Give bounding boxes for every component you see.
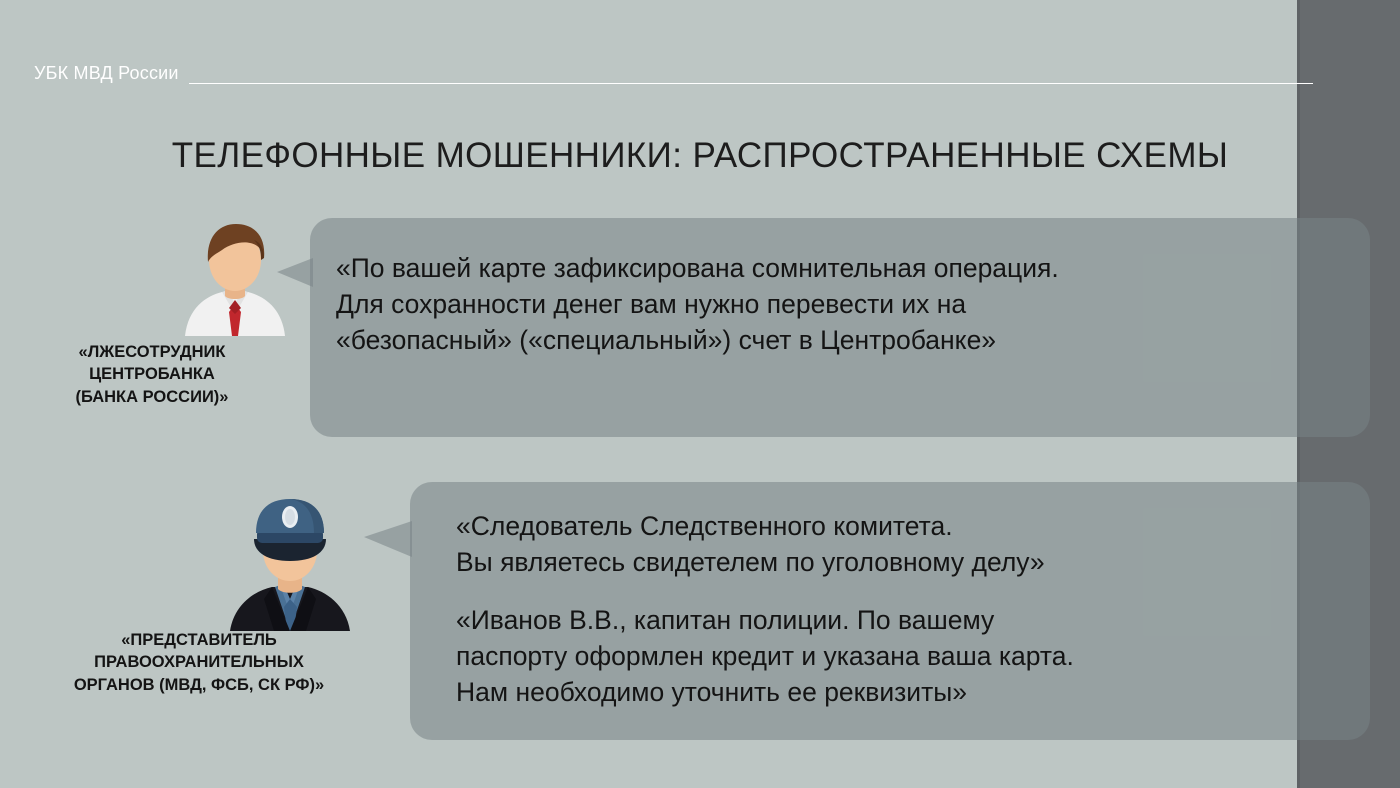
quote-paragraph: «Следователь Следственного комитета. Вы … (456, 508, 1346, 580)
slide-header: УБК МВД России (34, 58, 1400, 88)
quote-line: Вы являетесь свидетелем по уголовному де… (456, 544, 1346, 580)
quote-line: Для сохранности денег вам нужно перевест… (336, 286, 1340, 322)
quote-paragraph: «Иванов В.В., капитан полиции. По вашему… (456, 602, 1346, 710)
header-rule (189, 83, 1313, 84)
quote-line: Нам необходимо уточнить ее реквизиты» (456, 674, 1346, 710)
caption-line: (БАНКА РОССИИ)» (34, 386, 270, 408)
quote-line: «безопасный» («специальный») счет в Цент… (336, 322, 1340, 358)
scheme-2-caption: «ПРЕДСТАВИТЕЛЬ ПРАВООХРАНИТЕЛЬНЫХ ОРГАНО… (24, 629, 374, 696)
caption-line: «ПРЕДСТАВИТЕЛЬ (24, 629, 374, 651)
slide-canvas: УБК МВД России ТЕЛЕФОННЫЕ МОШЕННИКИ: РАС… (0, 0, 1400, 788)
caption-line: ОРГАНОВ (МВД, ФСБ, СК РФ)» (24, 674, 374, 696)
scheme-1-caption: «ЛЖЕСОТРУДНИК ЦЕНТРОБАНКА (БАНКА РОССИИ)… (34, 341, 270, 408)
speech-bubble-1-tail (277, 258, 313, 287)
page-title: ТЕЛЕФОННЫЕ МОШЕННИКИ: РАСПРОСТРАНЕННЫЕ С… (0, 136, 1400, 176)
caption-line: ЦЕНТРОБАНКА (34, 363, 270, 385)
quote-line: «Следователь Следственного комитета. (456, 508, 1346, 544)
quote-line: паспорту оформлен кредит и указана ваша … (456, 638, 1346, 674)
speech-bubble-2: «Следователь Следственного комитета. Вы … (410, 482, 1370, 740)
speech-bubble-2-tail (364, 521, 412, 557)
organization-label: УБК МВД России (34, 63, 179, 84)
quote-line: «Иванов В.В., капитан полиции. По вашему (456, 602, 1346, 638)
speech-bubble-1: «По вашей карте зафиксирована сомнительн… (310, 218, 1370, 437)
police-officer-avatar (228, 495, 352, 636)
caption-line: ПРАВООХРАНИТЕЛЬНЫХ (24, 651, 374, 673)
businessman-avatar (180, 218, 290, 341)
quote-paragraph: «По вашей карте зафиксирована сомнительн… (336, 250, 1340, 358)
caption-line: «ЛЖЕСОТРУДНИК (34, 341, 270, 363)
quote-line: «По вашей карте зафиксирована сомнительн… (336, 250, 1340, 286)
